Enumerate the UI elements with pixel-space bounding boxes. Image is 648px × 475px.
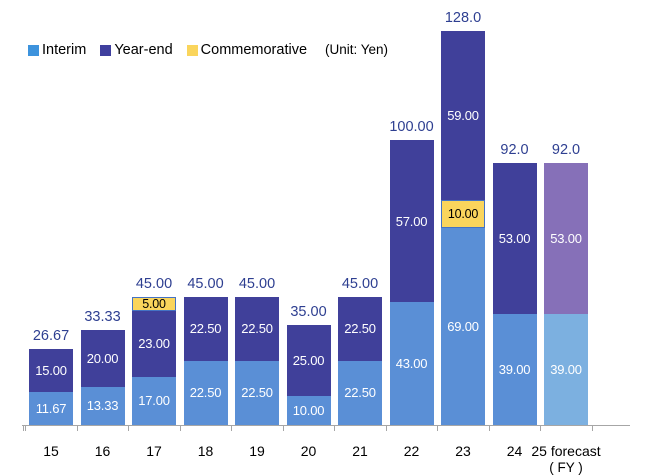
bar-segment-interim[interactable]: 13.33: [81, 387, 125, 425]
plot-area: 15.0011.6726.6720.0013.3333.335.0023.001…: [0, 0, 648, 474]
bar-segment-value: 11.67: [36, 401, 67, 416]
bar-21[interactable]: 22.5022.50: [338, 297, 382, 425]
bar-segment-year-end[interactable]: 53.00: [544, 163, 588, 314]
bar-segment-interim[interactable]: 17.00: [132, 377, 176, 425]
x-axis-tick: [334, 425, 335, 431]
bar-segment-interim[interactable]: 39.00: [493, 314, 537, 425]
bar-16[interactable]: 20.0013.33: [81, 330, 125, 425]
bar-segment-interim[interactable]: 22.50: [338, 361, 382, 425]
bar-segment-value: 13.33: [87, 398, 119, 413]
x-axis-line: [22, 425, 630, 426]
bar-segment-interim[interactable]: 39.00: [544, 314, 588, 425]
bar-total-label: 92.0: [521, 142, 611, 158]
x-axis-tick: [489, 425, 490, 431]
x-axis-tick: [128, 425, 129, 431]
bar-segment-commemorative[interactable]: 5.00: [132, 297, 176, 311]
bar-segment-interim[interactable]: 22.50: [235, 361, 279, 425]
x-axis-caption: ( FY ): [521, 460, 611, 475]
x-axis-label-text: 16: [95, 443, 111, 459]
bar-segment-value: 39.00: [550, 362, 582, 377]
bar-segment-value: 5.00: [142, 297, 166, 311]
bar-segment-value: 20.00: [87, 351, 119, 366]
bar-segment-value: 22.50: [344, 385, 376, 400]
bar-segment-year-end[interactable]: 20.00: [81, 330, 125, 387]
bar-segment-interim[interactable]: 43.00: [390, 302, 434, 425]
bar-20[interactable]: 25.0010.00: [287, 325, 331, 425]
x-axis-label-text: 24: [507, 443, 523, 459]
bar-23[interactable]: 59.0010.0069.00: [441, 31, 485, 425]
x-axis-label-text: 17: [146, 443, 162, 459]
x-axis-tick: [592, 425, 593, 431]
bar-segment-value: 39.00: [499, 362, 531, 377]
bar-segment-year-end[interactable]: 59.00: [441, 31, 485, 199]
x-axis-label-25-forecast: 25 forecast( FY ): [521, 443, 611, 475]
bar-segment-value: 53.00: [499, 231, 531, 246]
bar-24[interactable]: 53.0039.00: [493, 163, 537, 425]
bar-total-label: 45.00: [212, 276, 302, 292]
x-axis-label-text: 22: [404, 443, 420, 459]
x-axis-label-text: 25 forecast: [531, 443, 600, 459]
bar-segment-value: 10.00: [293, 403, 325, 418]
x-axis-label-text: 20: [301, 443, 317, 459]
bar-segment-value: 23.00: [138, 336, 170, 351]
bar-segment-value: 25.00: [293, 353, 325, 368]
bar-segment-year-end[interactable]: 23.00: [132, 311, 176, 377]
bar-segment-year-end[interactable]: 15.00: [29, 349, 73, 392]
x-axis-tick: [283, 425, 284, 431]
bar-segment-interim[interactable]: 10.00: [287, 396, 331, 425]
bar-segment-value: 17.00: [138, 393, 170, 408]
bar-segment-value: 59.00: [447, 108, 479, 123]
bar-17[interactable]: 5.0023.0017.00: [132, 297, 176, 425]
bar-segment-value: 15.00: [35, 363, 67, 378]
x-axis-label-text: 15: [43, 443, 59, 459]
x-axis-tick: [180, 425, 181, 431]
bar-segment-commemorative[interactable]: 10.00: [441, 200, 485, 229]
bar-segment-value: 57.00: [396, 214, 428, 229]
bar-segment-year-end[interactable]: 22.50: [338, 297, 382, 361]
x-axis-label-text: 21: [352, 443, 368, 459]
bar-segment-value: 22.50: [190, 385, 222, 400]
x-axis-label-text: 19: [249, 443, 265, 459]
bar-segment-value: 22.50: [241, 321, 273, 336]
x-axis-label-text: 23: [455, 443, 471, 459]
bar-segment-value: 53.00: [550, 231, 582, 246]
bar-15[interactable]: 15.0011.67: [29, 349, 73, 425]
bar-segment-year-end[interactable]: 53.00: [493, 163, 537, 314]
x-axis-label-text: 18: [198, 443, 214, 459]
x-axis-tick: [25, 425, 26, 431]
bar-total-label: 128.0: [418, 10, 508, 26]
x-axis-tick: [231, 425, 232, 431]
x-axis-tick: [386, 425, 387, 431]
bar-segment-value: 69.00: [447, 319, 479, 334]
bar-segment-interim[interactable]: 69.00: [441, 228, 485, 425]
bar-segment-year-end[interactable]: 22.50: [184, 297, 228, 361]
bar-segment-interim[interactable]: 11.67: [29, 392, 73, 425]
bar-segment-value: 22.50: [190, 321, 222, 336]
dividend-bar-chart: InterimYear-endCommemorative (Unit: Yen)…: [0, 0, 648, 474]
bar-22[interactable]: 57.0043.00: [390, 140, 434, 425]
bar-segment-value: 10.00: [448, 207, 478, 221]
bar-segment-year-end[interactable]: 57.00: [390, 140, 434, 303]
bar-segment-value: 43.00: [396, 356, 428, 371]
x-axis-tick: [540, 425, 541, 431]
bar-segment-value: 22.50: [241, 385, 273, 400]
bar-segment-interim[interactable]: 22.50: [184, 361, 228, 425]
bar-18[interactable]: 22.5022.50: [184, 297, 228, 425]
x-axis-tick: [77, 425, 78, 431]
bar-segment-year-end[interactable]: 25.00: [287, 325, 331, 396]
x-axis-tick: [437, 425, 438, 431]
x-axis-tick: [23, 425, 24, 431]
bar-segment-value: 22.50: [344, 321, 376, 336]
bar-25-forecast[interactable]: 53.0039.00: [544, 163, 588, 425]
